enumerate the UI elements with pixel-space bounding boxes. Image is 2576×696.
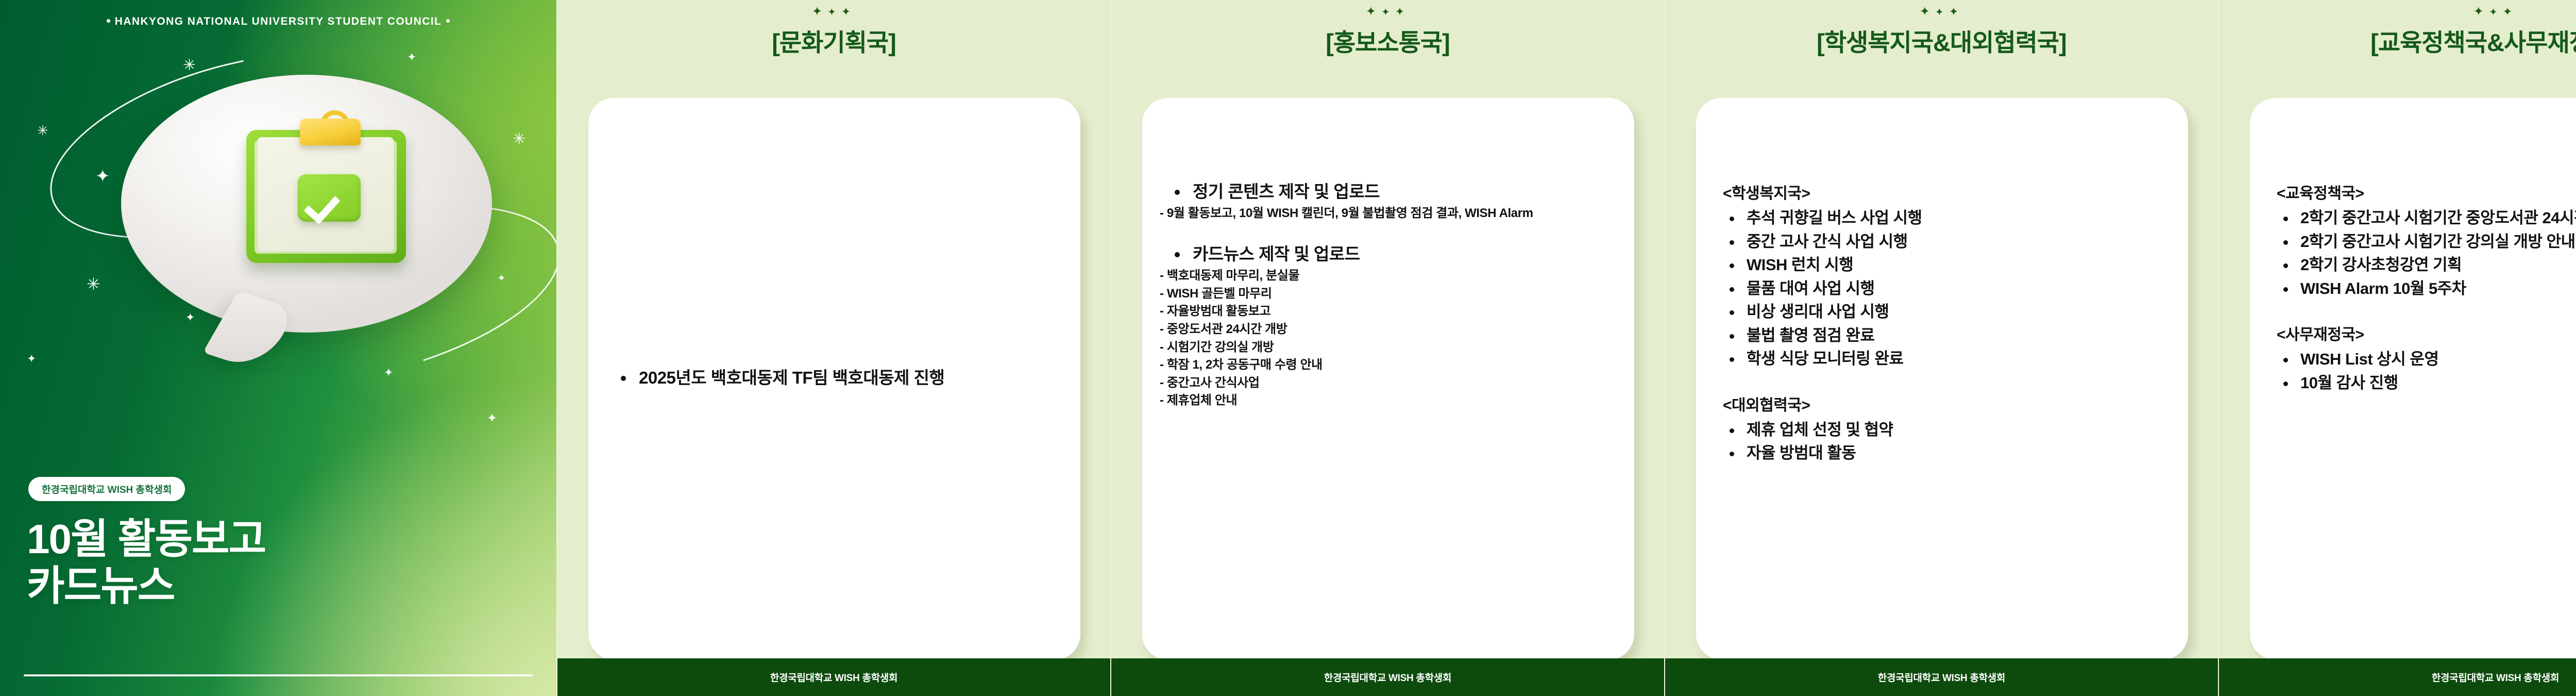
panel-footer: 한경국립대학교 WISH 총학생회: [557, 658, 1110, 696]
group-heading: <대외협력국>: [1723, 392, 2163, 415]
card-body: 정기 콘텐츠 제작 및 업로드- 9월 활동보고, 10월 WISH 캘린더, …: [1167, 180, 1609, 409]
group-heading: <교육정책국>: [2277, 180, 2576, 203]
sparkle-icon: ✳: [87, 276, 100, 292]
sub-item: - 학잠 1, 2차 공동구매 수령 안내: [1160, 357, 1609, 374]
bullet-item: WISH 런치 시행: [1742, 254, 2163, 276]
sparkle-icon: ✦: [1935, 7, 1949, 18]
sparkle-row: ✦✦✦: [2219, 4, 2576, 23]
sparkle-icon: ✦: [2503, 5, 2517, 18]
sub-item: - WISH 골든벨 마무리: [1160, 286, 1609, 303]
card-body: <학생복지국>추석 귀향길 버스 사업 시행중간 고사 간식 사업 시행WISH…: [1721, 180, 2163, 466]
bullet-item: 10월 감사 진행: [2296, 372, 2576, 394]
bullet-item: 중간 고사 간식 사업 시행: [1742, 231, 2163, 253]
bullet-item: 2학기 중간고사 시험기간 강의실 개방 안내: [2296, 231, 2576, 253]
spacer: [2275, 301, 2576, 322]
bullet-dot-icon: [107, 19, 110, 23]
sparkle-icon: ✦: [407, 52, 416, 63]
bullet-list: 제휴 업체 선정 및 협약자율 방범대 활동: [1721, 419, 2163, 464]
bullet-item: 불법 촬영 점검 완료: [1742, 325, 2163, 346]
panel-footer-text: 한경국립대학교 WISH 총학생회: [1878, 670, 2005, 684]
bullet-list: 카드뉴스 제작 및 업로드: [1167, 243, 1609, 266]
bullet-item: 추석 귀향길 버스 사업 시행: [1742, 207, 2163, 229]
content-panel: ✦✦✦[교육정책국&사무재정국]<교육정책국>2학기 중간고사 시험기간 중앙도…: [2218, 0, 2576, 696]
content-card: <학생복지국>추석 귀향길 버스 사업 시행중간 고사 간식 사업 시행WISH…: [1696, 98, 2188, 660]
sparkle-row: ✦✦✦: [1111, 4, 1664, 23]
sub-item: - 자율방범대 활동보고: [1160, 303, 1609, 320]
sparkle-row: ✦✦✦: [557, 4, 1110, 23]
group-heading: <학생복지국>: [1723, 180, 2163, 203]
panel-title: [학생복지국&대외협력국]: [1665, 23, 2218, 58]
sub-item: - 시험기간 강의실 개방: [1160, 339, 1609, 356]
bullet-dot-icon: [446, 19, 450, 23]
bullet-item: 학생 식당 모니터링 완료: [1742, 348, 2163, 370]
content-panel: ✦✦✦[문화기획국]2025년도 백호대동제 TF팀 백호대동제 진행한경국립대…: [556, 0, 1110, 696]
cover-kicker: HANKYONG NATIONAL UNIVERSITY STUDENT COU…: [0, 15, 556, 28]
content-card: <교육정책국>2학기 중간고사 시험기간 중앙도서관 24시간 개방 안내2학기…: [2250, 98, 2576, 660]
sparkle-icon: ✳: [37, 124, 48, 137]
card-body: 2025년도 백호대동제 TF팀 백호대동제 진행: [613, 367, 1056, 391]
sparkle-icon: ✦: [1381, 7, 1395, 18]
sparkle-icon: ✳: [183, 58, 196, 73]
cover-divider: [24, 674, 533, 676]
bullet-item: WISH Alarm 10월 5주차: [2296, 278, 2576, 300]
bullet-item: 2학기 중간고사 시험기간 중앙도서관 24시간 개방 안내: [2296, 207, 2576, 229]
card-body: <교육정책국>2학기 중간고사 시험기간 중앙도서관 24시간 개방 안내2학기…: [2275, 180, 2576, 395]
sparkle-icon: ✳: [513, 131, 526, 147]
sparkle-icon: ✦: [812, 5, 827, 19]
bullet-list: 2025년도 백호대동제 TF팀 백호대동제 진행: [613, 367, 1056, 389]
panel-footer: 한경국립대학교 WISH 총학생회: [1665, 658, 2218, 696]
bullet-list: 정기 콘텐츠 제작 및 업로드: [1167, 180, 1609, 203]
sparkle-icon: ✦: [1949, 5, 1963, 18]
cover-kicker-text: HANKYONG NATIONAL UNIVERSITY STUDENT COU…: [115, 15, 442, 27]
bullet-item: 물품 대여 사업 시행: [1742, 278, 2163, 300]
bullet-list: WISH List 상시 운영10월 감사 진행: [2275, 349, 2576, 393]
bullet-item: 카드뉴스 제작 및 업로드: [1189, 243, 1609, 266]
sparkle-icon: ✦: [2473, 5, 2489, 19]
sparkle-icon: ✦: [95, 168, 110, 185]
sparkle-icon: ✦: [1920, 5, 1935, 19]
clipboard-check-icon: [246, 119, 410, 266]
sub-item: - 제휴업체 안내: [1160, 392, 1609, 409]
org-badge: 한경국립대학교 WISH 총학생회: [28, 477, 185, 501]
panel-title: [문화기획국]: [557, 23, 1110, 58]
spacer: [1167, 222, 1609, 243]
content-card: 정기 콘텐츠 제작 및 업로드- 9월 활동보고, 10월 WISH 캘린더, …: [1142, 98, 1634, 660]
content-panel: ✦✦✦[학생복지국&대외협력국]<학생복지국>추석 귀향길 버스 사업 시행중간…: [1664, 0, 2218, 696]
sparkle-row: ✦✦✦: [1665, 4, 2218, 23]
sub-item: - 백호대동제 마무리, 분실물: [1160, 268, 1609, 285]
sparkle-icon: ✦: [841, 5, 856, 18]
bullet-item: WISH List 상시 운영: [2296, 349, 2576, 370]
sub-item: - 9월 활동보고, 10월 WISH 캘린더, 9월 불법촬영 점검 결과, …: [1160, 205, 1609, 222]
sparkle-icon: ✦: [27, 353, 36, 364]
panel-title: [교육정책국&사무재정국]: [2219, 23, 2576, 58]
sparkle-icon: ✦: [1395, 5, 1410, 18]
sparkle-icon: ✦: [384, 367, 393, 378]
sparkle-icon: ✦: [2489, 7, 2503, 18]
bullet-list: 추석 귀향길 버스 사업 시행중간 고사 간식 사업 시행WISH 런치 시행물…: [1721, 207, 2163, 370]
check-mark-icon: [298, 174, 361, 222]
content-panel: ✦✦✦[홍보소통국]정기 콘텐츠 제작 및 업로드- 9월 활동보고, 10월 …: [1110, 0, 1664, 696]
sparkle-icon: ✦: [827, 7, 841, 18]
sparkle-icon: ✦: [487, 412, 497, 425]
panel-footer-text: 한경국립대학교 WISH 총학생회: [1324, 670, 1451, 684]
cover-panel: HANKYONG NATIONAL UNIVERSITY STUDENT COU…: [0, 0, 556, 696]
content-card: 2025년도 백호대동제 TF팀 백호대동제 진행: [588, 98, 1080, 660]
bullet-list: 2학기 중간고사 시험기간 중앙도서관 24시간 개방 안내2학기 중간고사 시…: [2275, 207, 2576, 299]
panel-title: [홍보소통국]: [1111, 23, 1664, 58]
panel-footer-text: 한경국립대학교 WISH 총학생회: [770, 670, 897, 684]
sub-item: - 중간고사 간식사업: [1160, 375, 1609, 392]
cardnews-canvas: HANKYONG NATIONAL UNIVERSITY STUDENT COU…: [0, 0, 2576, 696]
sparkle-icon: ✦: [1366, 5, 1381, 19]
bullet-item: 2학기 강사초청강연 기획: [2296, 254, 2576, 276]
bullet-item: 제휴 업체 선정 및 협약: [1742, 419, 2163, 441]
sparkle-icon: ✦: [497, 273, 506, 284]
panel-footer-text: 한경국립대학교 WISH 총학생회: [2432, 670, 2559, 684]
bullet-item: 정기 콘텐츠 제작 및 업로드: [1189, 180, 1609, 203]
bullet-item: 비상 생리대 사업 시행: [1742, 301, 2163, 323]
panel-footer: 한경국립대학교 WISH 총학생회: [1111, 658, 1664, 696]
bullet-item: 2025년도 백호대동제 TF팀 백호대동제 진행: [635, 367, 1056, 389]
bullet-item: 자율 방범대 활동: [1742, 442, 2163, 464]
group-heading: <사무재정국>: [2277, 322, 2576, 344]
panel-footer: 한경국립대학교 WISH 총학생회: [2219, 658, 2576, 696]
sparkle-icon: ✦: [185, 312, 195, 323]
clipboard-clamp-shape: [300, 119, 361, 145]
cover-title: 10월 활동보고 카드뉴스: [27, 516, 265, 609]
sub-item: - 중앙도서관 24시간 개방: [1160, 321, 1609, 338]
spacer: [1721, 372, 2163, 392]
